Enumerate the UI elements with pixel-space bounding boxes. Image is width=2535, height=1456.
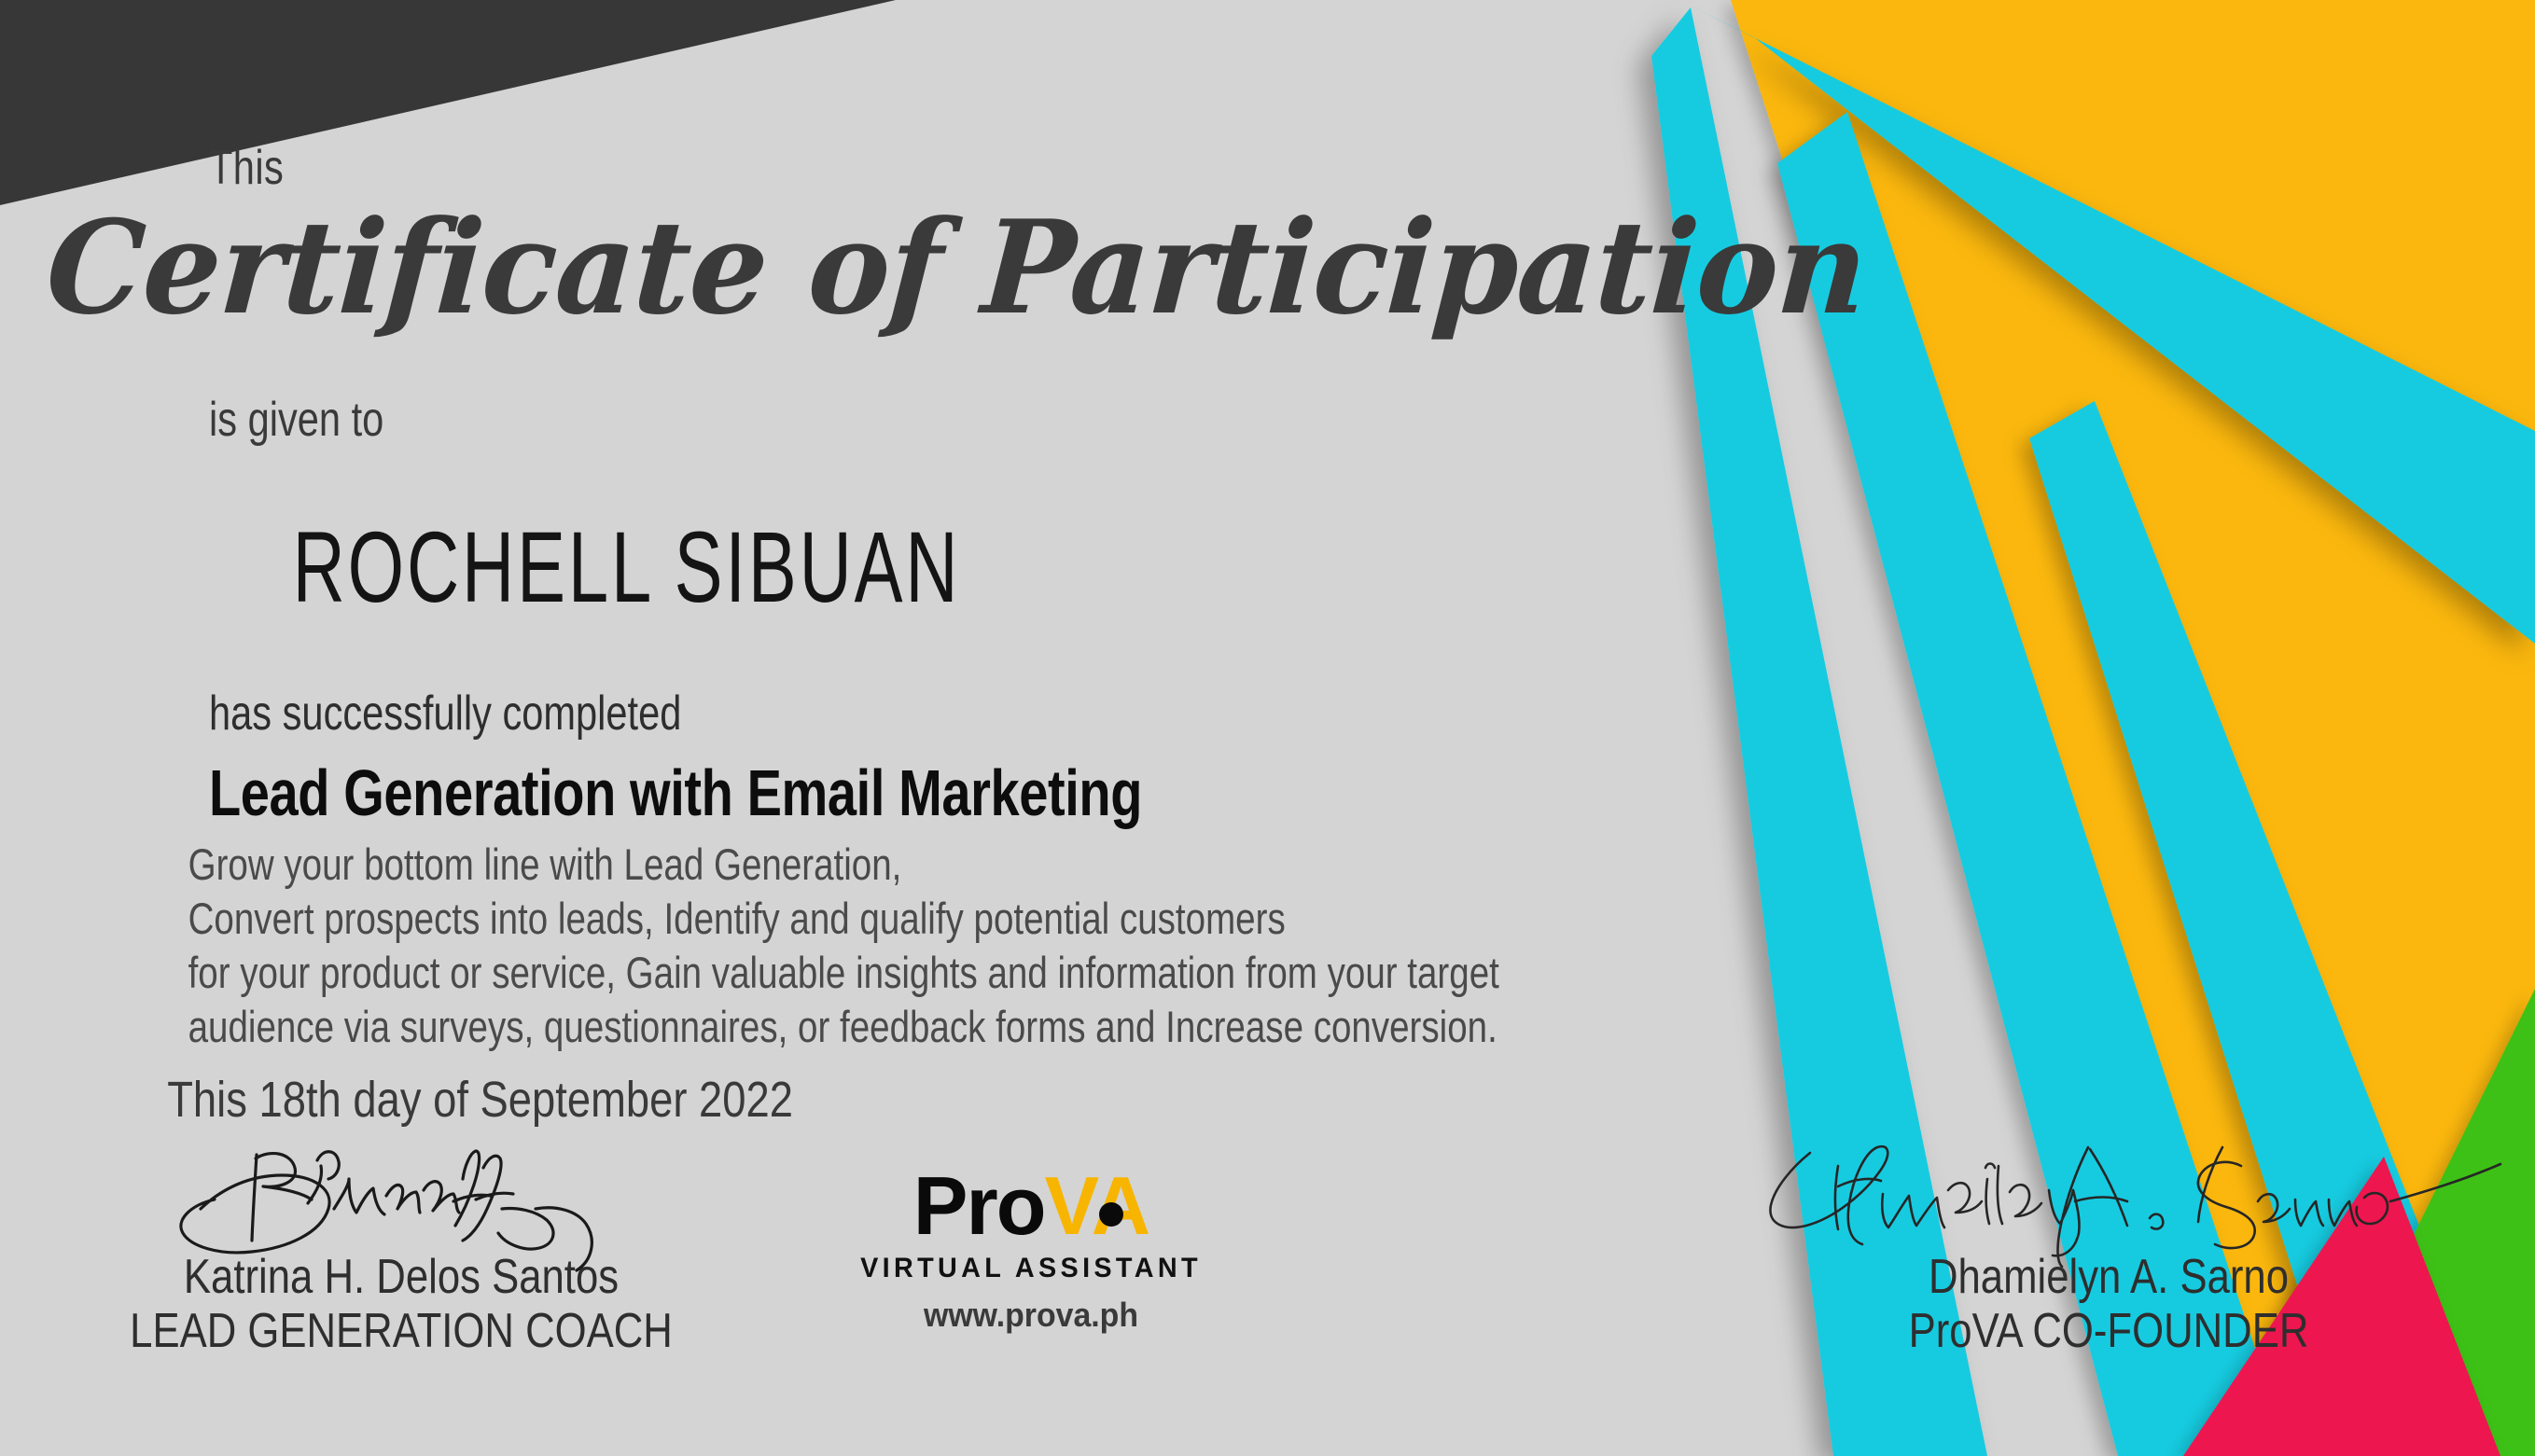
description-line: audience via surveys, questionnaires, or…: [188, 1000, 1902, 1054]
certificate-canvas: This Certificate of Participation is giv…: [0, 0, 2535, 1456]
logo-tagline: VIRTUAL ASSISTANT: [829, 1253, 1233, 1284]
signatory-role: LEAD GENERATION COACH: [56, 1304, 745, 1358]
logo-dot-icon: [1099, 1202, 1123, 1227]
logo-url: www.prova.ph: [834, 1296, 1229, 1335]
certificate-title: Certificate of Participation: [42, 191, 2038, 343]
given-to-label: is given to: [209, 392, 1881, 448]
description-line: for your product or service, Gain valuab…: [188, 946, 1902, 1000]
description-line: Convert prospects into leads, Identify a…: [188, 892, 1902, 946]
handwritten-signature-icon: [1698, 1147, 2519, 1250]
logo-word-accent: VA: [1044, 1161, 1149, 1251]
description-line: Grow your bottom line with Lead Generati…: [188, 838, 1902, 892]
course-description: Grow your bottom line with Lead Generati…: [188, 838, 1902, 1054]
signatory-name: Katrina H. Delos Santos: [56, 1250, 745, 1304]
logo-wordmark: Pro VA: [821, 1161, 1241, 1251]
recipient-name: ROCHELL SIBUAN: [293, 508, 1798, 625]
completion-label: has successfully completed: [209, 686, 1881, 742]
course-title: Lead Generation with Email Marketing: [209, 756, 1881, 830]
signature-block-cofounder: Dhamielyn A. Sarno ProVA CO-FOUNDER: [1698, 1147, 2519, 1358]
logo-word-primary: Pro: [913, 1161, 1045, 1251]
prova-logo: Pro VA VIRTUAL ASSISTANT www.prova.ph: [821, 1161, 1241, 1335]
intro-word: This: [209, 140, 1881, 196]
award-date: This 18th day of September 2022: [167, 1071, 1923, 1129]
signatory-role: ProVA CO-FOUNDER: [1763, 1304, 2453, 1358]
handwritten-signature-icon: [0, 1147, 812, 1250]
logo-word-accent-text: VA: [1044, 1159, 1149, 1252]
signatory-name: Dhamielyn A. Sarno: [1763, 1250, 2453, 1304]
signature-block-coach: Katrina H. Delos Santos LEAD GENERATION …: [0, 1147, 812, 1358]
